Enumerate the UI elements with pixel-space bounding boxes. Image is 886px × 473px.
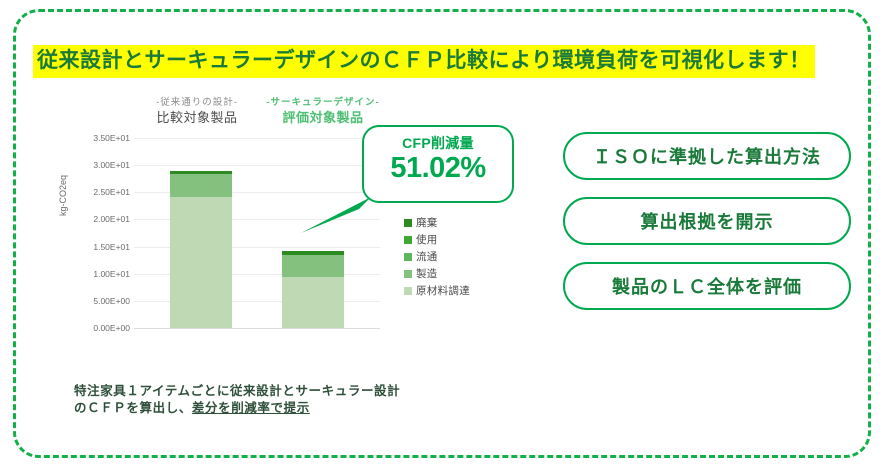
legend-swatch-icon [404, 236, 412, 244]
legend-swatch-icon [404, 270, 412, 278]
footer-caption-line2: のＣＦＰを算出し、 [74, 401, 192, 415]
legend-label: 流通 [416, 249, 438, 264]
legend-swatch-icon [404, 287, 412, 295]
feature-pill-iso-label: ＩＳＯに準拠した算出方法 [593, 143, 821, 169]
footer-caption: 特注家具１アイテムごとに従来設計とサーキュラー設計 のＣＦＰを算出し、差分を削減… [74, 383, 504, 417]
y-axis-tick: 0.00E+00 [68, 324, 130, 333]
y-axis-tick: 5.00E+00 [68, 297, 130, 306]
legend-label: 製造 [416, 266, 438, 281]
y-axis-tick: 1.00E+01 [68, 270, 130, 279]
legend-item: 流通 [404, 248, 514, 265]
bar-segment [282, 277, 344, 328]
bar-segment [282, 255, 344, 277]
feature-pill-basis[interactable]: 算出根拠を開示 [563, 197, 851, 245]
y-axis-tick: 1.50E+01 [68, 243, 130, 252]
legend-item: 原材料調達 [404, 282, 514, 299]
column-header-circular-sub: -サーキュラーデザイン- [248, 96, 398, 109]
headline: 従来設計とサーキュラーデザインのＣＦＰ比較により環境負荷を可視化します！ [33, 44, 851, 78]
legend-item: 製造 [404, 265, 514, 282]
legend-label: 原材料調達 [416, 283, 470, 298]
y-axis-tick: 2.00E+01 [68, 215, 130, 224]
y-axis-tick: 3.00E+01 [68, 161, 130, 170]
bar-baseline [170, 171, 232, 328]
y-axis-tick: 2.50E+01 [68, 188, 130, 197]
bar-segment [170, 174, 232, 197]
footer-caption-underlined: 差分を削減率で提示 [192, 401, 310, 415]
footer-caption-line1: 特注家具１アイテムごとに従来設計とサーキュラー設計 [74, 384, 400, 398]
feature-pill-list: ＩＳＯに準拠した算出方法 算出根拠を開示 製品のＬＣ全体を評価 [563, 132, 851, 327]
legend-item: 廃棄 [404, 214, 514, 231]
legend-label: 廃棄 [416, 215, 438, 230]
y-axis-tick: 3.50E+01 [68, 134, 130, 143]
feature-pill-iso[interactable]: ＩＳＯに準拠した算出方法 [563, 132, 851, 180]
headline-text: 従来設計とサーキュラーデザインのＣＦＰ比較により環境負荷を可視化します！ [33, 45, 815, 78]
column-header-circular: -サーキュラーデザイン- 評価対象製品 [248, 96, 398, 127]
cfp-reduction-callout: CFP削減量 51.02% [362, 125, 514, 203]
y-axis-label: kg-CO2eq [58, 175, 68, 216]
plot-area [134, 138, 380, 328]
legend-item: 使用 [404, 231, 514, 248]
legend-swatch-icon [404, 219, 412, 227]
x-axis-line [134, 328, 380, 329]
slide-canvas: 従来設計とサーキュラーデザインのＣＦＰ比較により環境負荷を可視化します！ -従来… [0, 0, 886, 473]
callout-value: 51.02% [364, 152, 512, 185]
feature-pill-lifecycle[interactable]: 製品のＬＣ全体を評価 [563, 262, 851, 310]
bar-segment [170, 197, 232, 328]
feature-pill-lifecycle-label: 製品のＬＣ全体を評価 [612, 273, 802, 299]
feature-pill-basis-label: 算出根拠を開示 [641, 208, 774, 234]
legend-swatch-icon [404, 253, 412, 261]
bar-circular [282, 251, 344, 328]
callout-title: CFP削減量 [364, 135, 512, 151]
legend-label: 使用 [416, 232, 438, 247]
chart-legend: 廃棄使用流通製造原材料調達 [404, 214, 514, 299]
